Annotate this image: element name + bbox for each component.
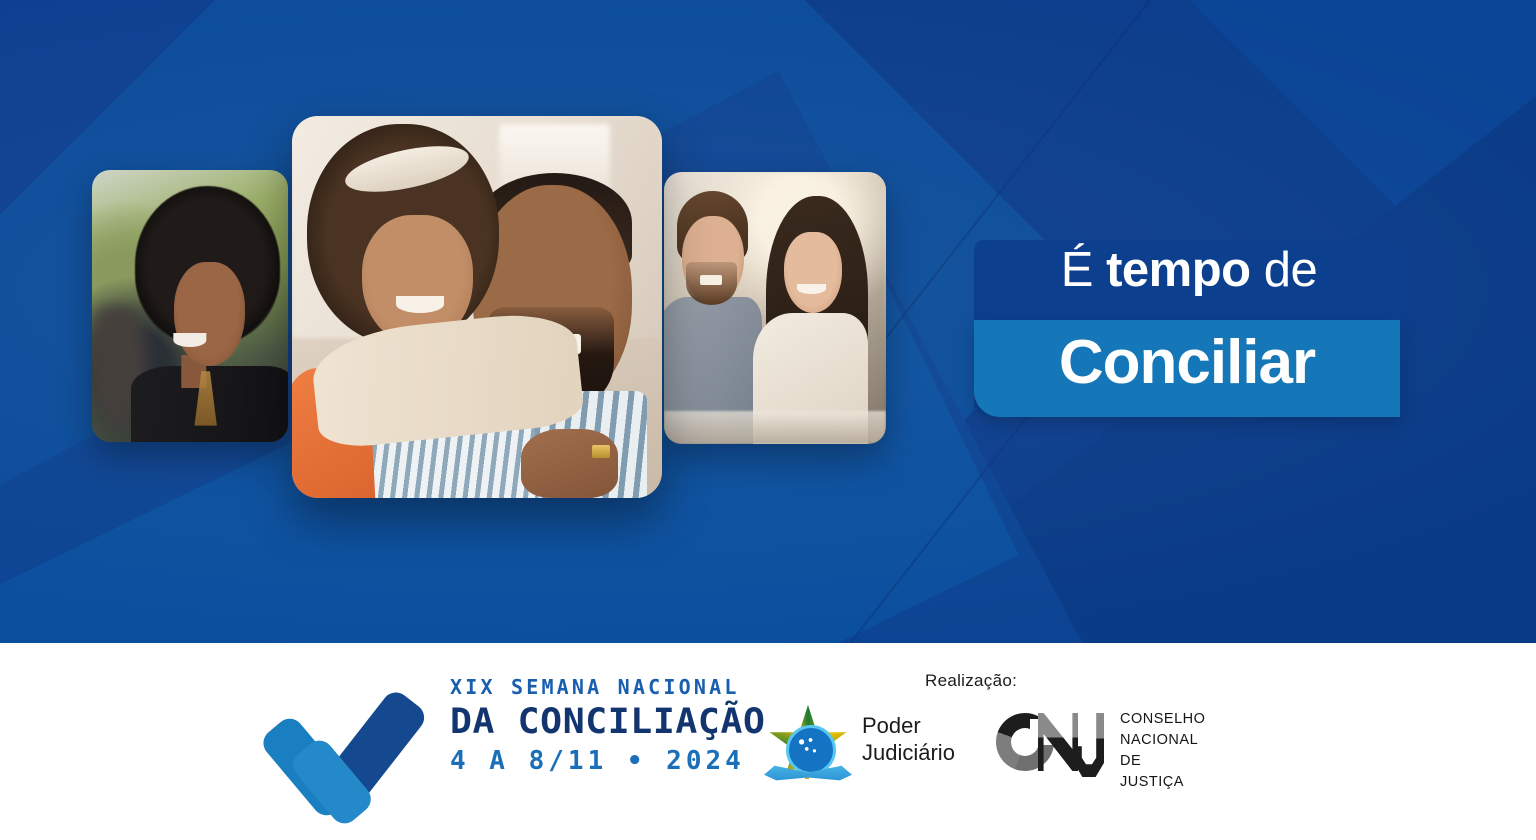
- headline-line-2: Conciliar: [974, 332, 1400, 394]
- cnj-letter-j: [1074, 713, 1104, 777]
- poder-judiciario-logo: Poder Judiciário: [762, 701, 967, 801]
- event-logo-line-2: DA CONCILIAÇÃO: [450, 702, 710, 742]
- cnj-line-1: CONSELHO: [1120, 709, 1206, 730]
- coat-of-arms-stars: [792, 731, 824, 763]
- event-logo-line-3: 4 A 8/11 • 2024: [450, 746, 700, 776]
- poder-judiciario-line-2: Judiciário: [862, 740, 955, 767]
- headline-line-1: É tempo de: [974, 246, 1404, 295]
- hero-section: É tempo de Conciliar: [0, 0, 1536, 643]
- brazil-coat-of-arms-icon: [762, 701, 854, 793]
- realizacao-label: Realização:: [925, 671, 1017, 691]
- event-logo-text: XIX SEMANA NACIONAL DA CONCILIAÇÃO 4 A 8…: [450, 675, 700, 776]
- banner-root: É tempo de Conciliar XIX SEMANA NACIONAL…: [0, 0, 1536, 840]
- cnj-line-2: NACIONAL: [1120, 730, 1206, 751]
- headline-word-tempo: tempo: [1106, 243, 1251, 297]
- poder-judiciario-line-1: Poder: [862, 713, 955, 740]
- headline-word-de: de: [1251, 243, 1318, 297]
- cnj-line-3: DE JUSTIÇA: [1120, 751, 1206, 793]
- cnj-logo: CONSELHO NACIONAL DE JUSTIÇA: [996, 705, 1206, 791]
- poder-judiciario-text: Poder Judiciário: [862, 713, 955, 767]
- cnj-monogram-icon: [996, 709, 1108, 775]
- checkmark-icon: [282, 689, 434, 807]
- footer-section: XIX SEMANA NACIONAL DA CONCILIAÇÃO 4 A 8…: [0, 643, 1536, 840]
- headline-block: É tempo de Conciliar: [0, 0, 1536, 643]
- event-logo-line-1: XIX SEMANA NACIONAL: [450, 675, 700, 699]
- cnj-text: CONSELHO NACIONAL DE JUSTIÇA: [1120, 709, 1206, 793]
- headline-word-e: É: [1061, 243, 1106, 297]
- event-logo: XIX SEMANA NACIONAL DA CONCILIAÇÃO 4 A 8…: [282, 667, 694, 817]
